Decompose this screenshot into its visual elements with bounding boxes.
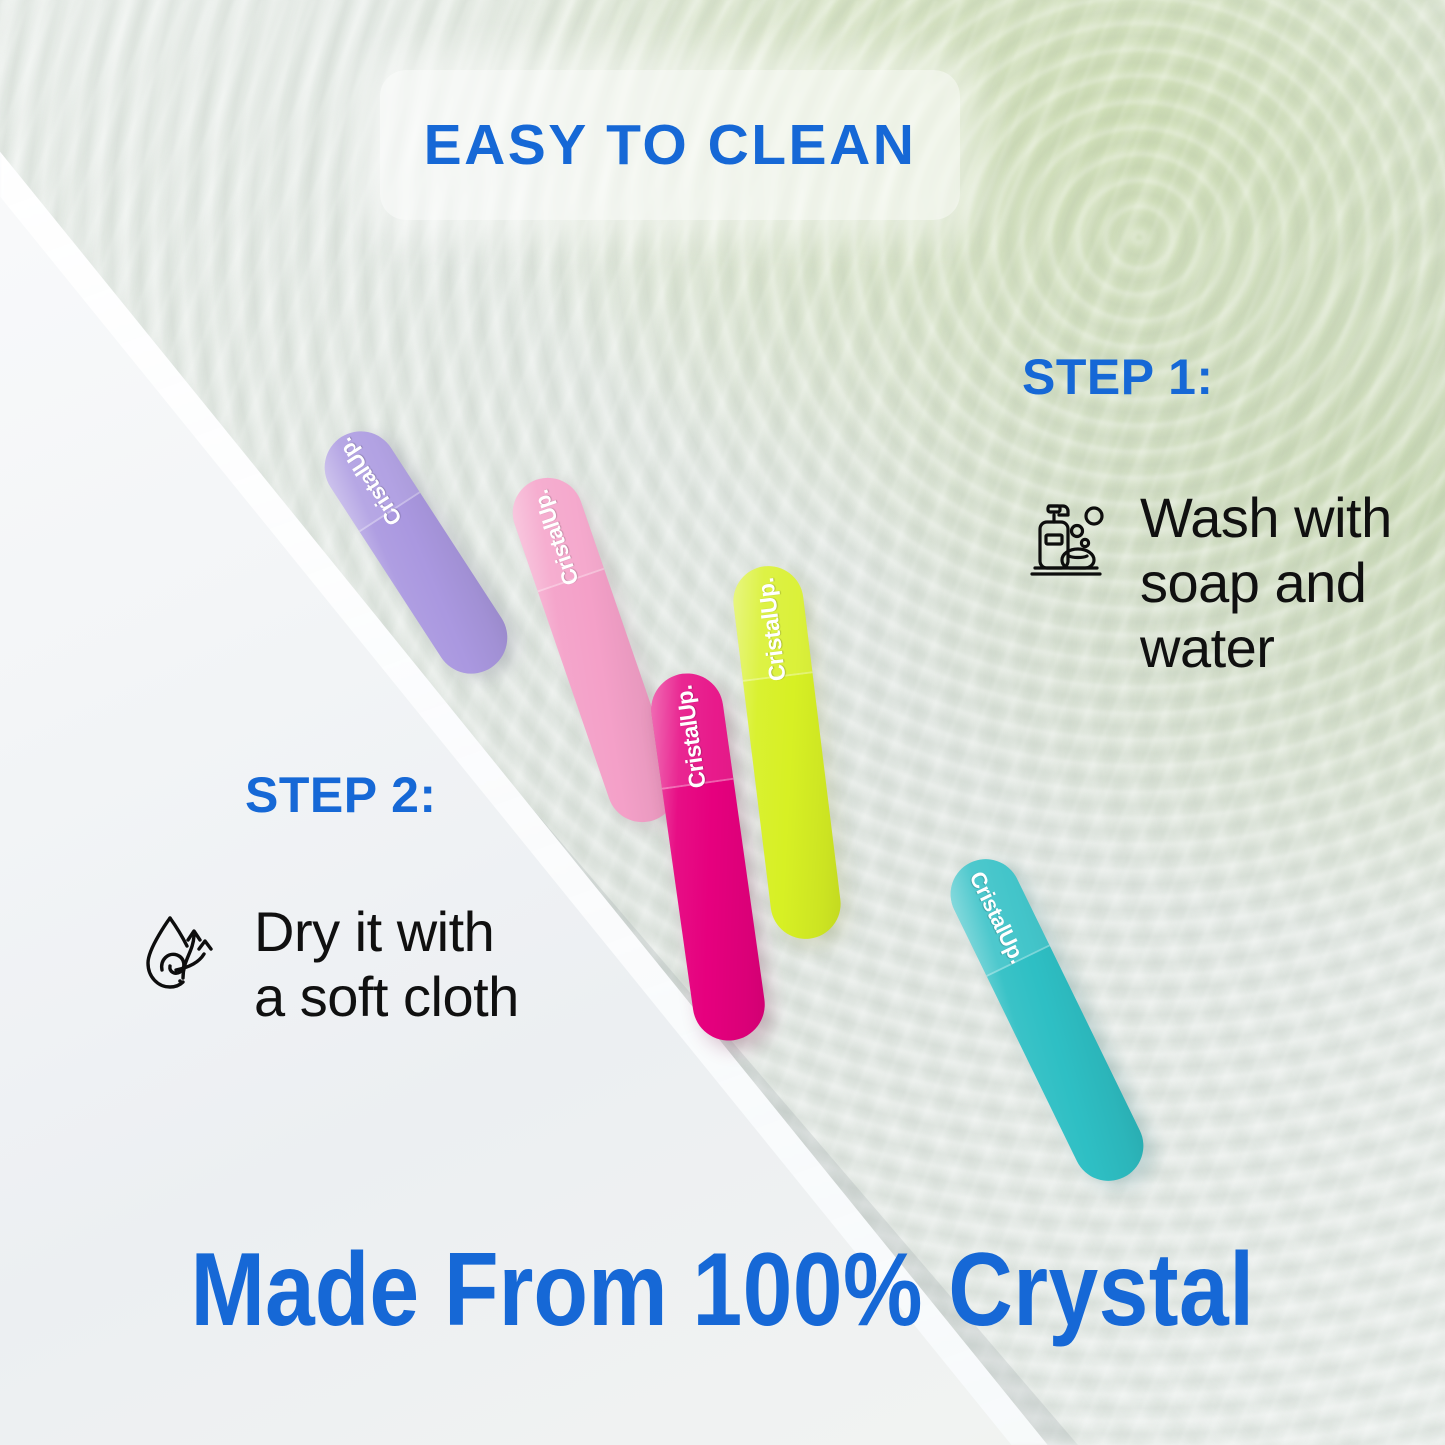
step-2-text: Dry it with a soft cloth [254, 900, 519, 1030]
step-1-title: STEP 1: [1022, 352, 1392, 402]
product-feature-poster: EASY TO CLEAN CristalUp. CristalUp. Cris… [0, 0, 1445, 1445]
footer-headline-part1: Made From [191, 1232, 693, 1348]
header-badge-label: EASY TO CLEAN [424, 112, 917, 178]
water-drop-drying-icon [140, 908, 232, 1005]
step-1-body: Wash with soap and water [1022, 486, 1392, 681]
step-2-body: Dry it with a soft cloth [140, 900, 519, 1030]
step-2-block: STEP 2: Dry it with a sof [140, 770, 519, 1030]
footer-headline: Made From 100% Crystal [101, 1238, 1344, 1342]
step-2-title: STEP 2: [245, 770, 519, 820]
step-1-text: Wash with soap and water [1140, 486, 1392, 681]
footer-headline-part2: 100% Crystal [692, 1232, 1254, 1348]
step-1-block: STEP 1: [1022, 352, 1392, 681]
header-badge: EASY TO CLEAN [380, 70, 960, 220]
soap-dispenser-icon [1022, 494, 1118, 595]
